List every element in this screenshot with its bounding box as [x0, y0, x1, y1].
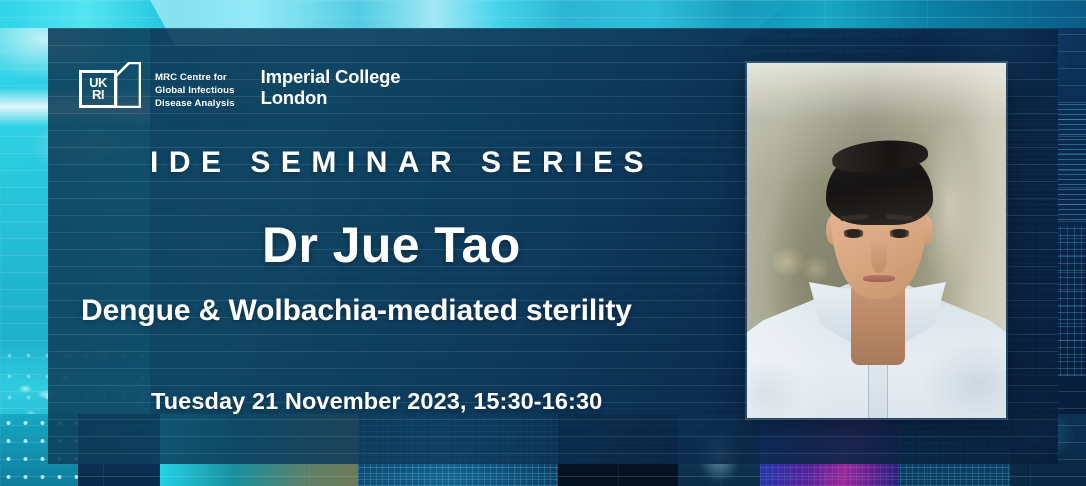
mrc-centre-wordmark: MRC Centre for Global Infectious Disease…	[155, 62, 235, 111]
photo-eye-right	[888, 229, 911, 238]
ukri-logo-box: UK RI	[79, 70, 117, 108]
series-title: IDE SEMINAR SERIES	[150, 146, 654, 180]
logo-lockup: UK RI MRC Centre for Global Infectious D…	[79, 62, 400, 114]
imperial-line-2: London	[261, 88, 401, 109]
mrc-line-3: Disease Analysis	[155, 97, 235, 110]
ukri-logo-letters-bottom: RI	[92, 89, 104, 101]
ukri-logo-icon: UK RI	[79, 62, 141, 114]
talk-title: Dengue & Wolbachia-mediated sterility	[81, 294, 632, 328]
speaker-photo-frame	[747, 63, 1006, 418]
seminar-banner: UK RI MRC Centre for Global Infectious D…	[0, 0, 1086, 486]
photo-nose	[871, 243, 887, 273]
imperial-line-1: Imperial College	[261, 67, 401, 88]
ukri-house-icon	[115, 62, 141, 108]
mrc-line-2: Global Infectious	[155, 84, 235, 97]
photo-hair	[826, 147, 933, 225]
speaker-name: Dr Jue Tao	[262, 216, 521, 274]
imperial-college-wordmark: Imperial College London	[249, 62, 401, 108]
seminar-datetime: Tuesday 21 November 2023, 15:30-16:30	[151, 388, 602, 415]
photo-mouth	[863, 275, 895, 282]
mrc-line-1: MRC Centre for	[155, 71, 235, 84]
photo-eye-left	[842, 229, 865, 238]
speaker-photo	[747, 63, 1006, 418]
